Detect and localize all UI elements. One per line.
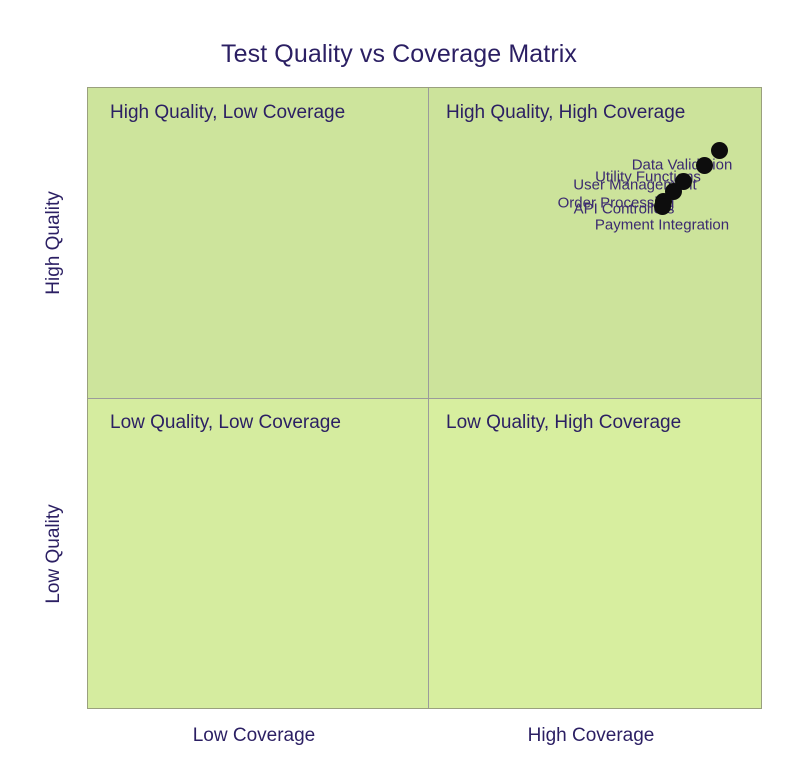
y-tick-label-high-quality: High Quality	[43, 191, 65, 295]
quadrant-low-quality-high-coverage: Low Quality, High Coverage	[428, 398, 762, 709]
quadrant-divider-horizontal	[88, 398, 762, 399]
quadrant-label: High Quality, Low Coverage	[110, 102, 345, 124]
y-tick-label-low-quality: Low Quality	[43, 504, 65, 603]
quadrant-high-quality-high-coverage: High Quality, High Coverage	[428, 88, 762, 398]
quadrant-low-quality-low-coverage: Low Quality, Low Coverage	[88, 398, 428, 709]
page-title: Test Quality vs Coverage Matrix	[0, 40, 798, 69]
quadrant-high-quality-low-coverage: High Quality, Low Coverage	[88, 88, 428, 398]
quadrant-label: High Quality, High Coverage	[446, 102, 685, 124]
plot-area: High Quality, Low Coverage High Quality,…	[87, 87, 762, 709]
data-point[interactable]	[696, 157, 713, 174]
quadrant-label: Low Quality, High Coverage	[446, 412, 681, 434]
data-point-label: Payment Integration	[595, 217, 729, 234]
x-tick-label-low-coverage: Low Coverage	[193, 725, 316, 747]
quadrant-label: Low Quality, Low Coverage	[110, 412, 341, 434]
data-point[interactable]	[654, 198, 671, 215]
x-tick-label-high-coverage: High Coverage	[528, 725, 655, 747]
scatter-chart: Test Quality vs Coverage Matrix High Qua…	[0, 0, 798, 780]
data-point[interactable]	[711, 142, 728, 159]
